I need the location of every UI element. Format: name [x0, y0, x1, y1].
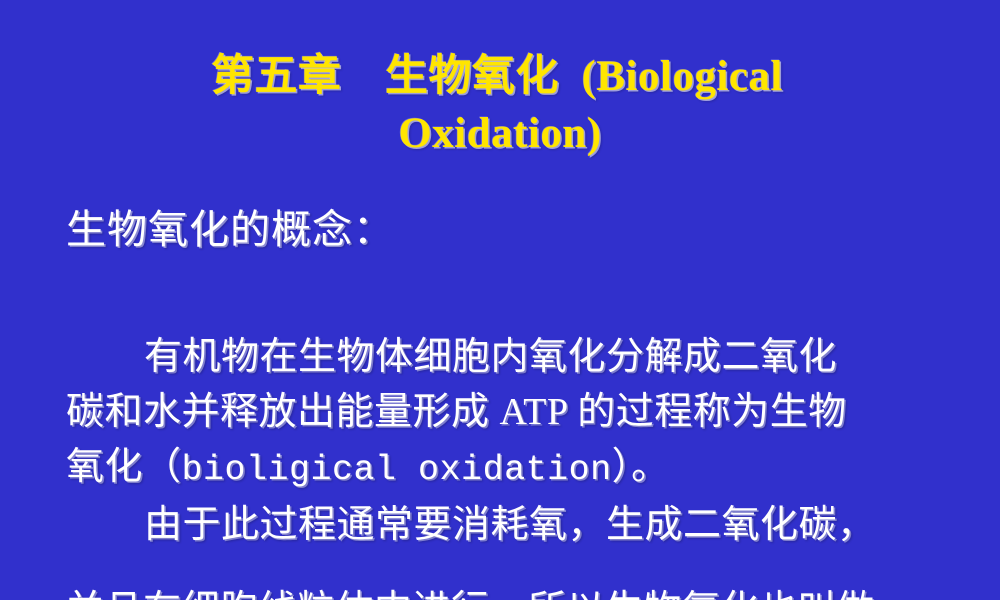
body-paragraph-line-4: 由于此过程通常要消耗氧，生成二氧化碳，: [66, 498, 966, 553]
slide-title-line-1: 第五章 生物氧化 (Biological: [0, 48, 1000, 105]
body-paragraph-line-1: 有机物在生物体细胞内氧化分解成二氧化: [66, 330, 966, 385]
slide-canvas: 第五章 生物氧化 (Biological Oxidation) 生物氧化的概念：…: [0, 0, 1000, 600]
section-heading: 生物氧化的概念：: [66, 204, 394, 256]
body-text-run-atp: ATP: [500, 391, 568, 433]
slide-title: 第五章 生物氧化 (Biological Oxidation): [0, 48, 1000, 162]
body-text-run: 由于此过程通常要消耗氧，生成二氧化碳，: [144, 504, 876, 546]
body-text-block: 有机物在生物体细胞内氧化分解成二氧化 碳和水并释放出能量形成 ATP 的过程称为…: [66, 330, 966, 553]
body-text-run: 有机物在生物体细胞内氧化分解成二氧化: [144, 336, 837, 378]
slide-title-line-2: Oxidation): [0, 105, 1000, 162]
body-paragraph-line-2: 碳和水并释放出能量形成 ATP 的过程称为生物: [66, 385, 966, 440]
body-text-run: 碳和水并释放出能量形成: [66, 391, 500, 433]
body-text-run: 氧化（: [66, 446, 182, 488]
body-text-run: ）。: [612, 446, 670, 488]
body-text-run-latin-term: bioligical oxidation: [182, 450, 612, 490]
body-paragraph-line-5-clipped: 并且在细胞线粒体中进行，所以生物氧化也叫做: [66, 585, 986, 600]
body-paragraph-line-3: 氧化（bioligical oxidation）。: [66, 440, 966, 498]
body-text-run-clipped: 并且在细胞线粒体中进行，所以生物氧化也叫做: [66, 585, 986, 600]
body-text-run: 的过程称为生物: [567, 391, 847, 433]
